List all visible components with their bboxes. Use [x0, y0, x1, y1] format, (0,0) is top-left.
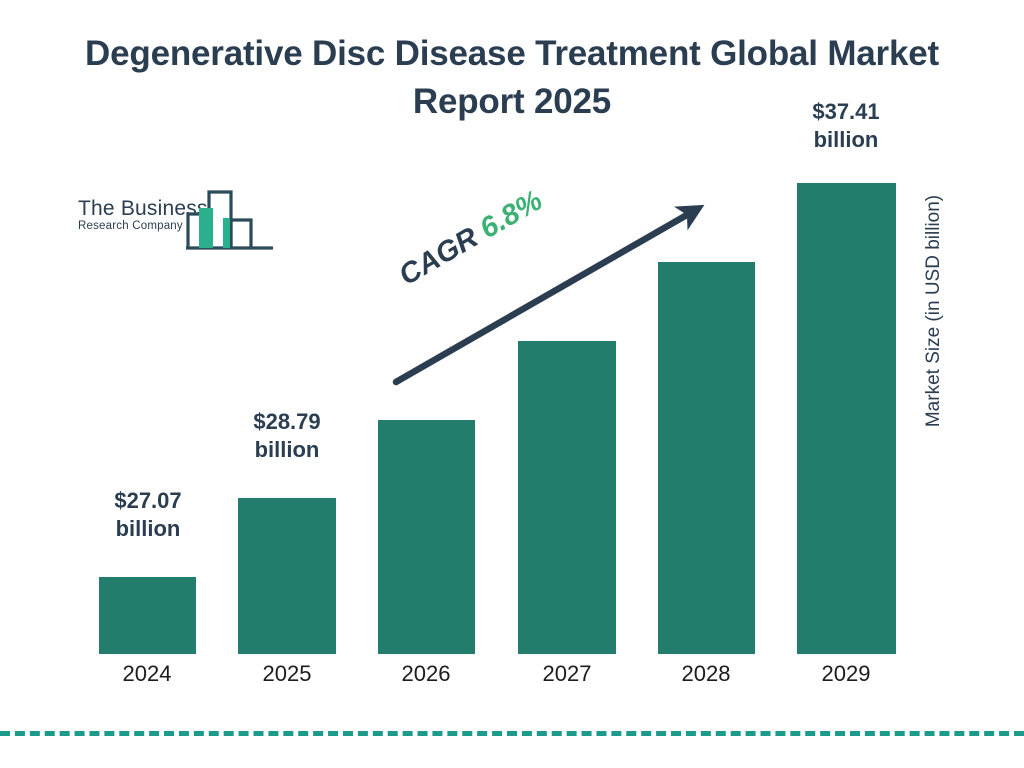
bar-value-2025: $28.79 billion: [217, 408, 357, 464]
bar-value-2029-unit: billion: [776, 126, 916, 154]
bar-2024[interactable]: [99, 577, 196, 654]
bar-2029[interactable]: [797, 183, 896, 654]
bar-value-2024-unit: billion: [78, 515, 218, 543]
bar-value-2024-number: $27.07: [78, 487, 218, 515]
growth-arrow: [380, 190, 720, 400]
bar-value-2029: $37.41 billion: [776, 98, 916, 154]
bar-2026[interactable]: [378, 420, 475, 654]
chart-canvas: Degenerative Disc Disease Treatment Glob…: [0, 0, 1024, 768]
x-label-2027: 2027: [507, 661, 627, 687]
y-axis-title: Market Size (in USD billion): [923, 161, 945, 461]
bar-2025[interactable]: [238, 498, 336, 654]
x-label-2026: 2026: [366, 661, 486, 687]
bar-value-2025-number: $28.79: [217, 408, 357, 436]
bar-value-2024: $27.07 billion: [78, 487, 218, 543]
bar-value-2029-number: $37.41: [776, 98, 916, 126]
footer-divider: [0, 731, 1024, 736]
x-label-2029: 2029: [786, 661, 906, 687]
x-label-2024: 2024: [87, 661, 207, 687]
x-label-2028: 2028: [646, 661, 766, 687]
bar-value-2025-unit: billion: [217, 436, 357, 464]
x-label-2025: 2025: [227, 661, 347, 687]
